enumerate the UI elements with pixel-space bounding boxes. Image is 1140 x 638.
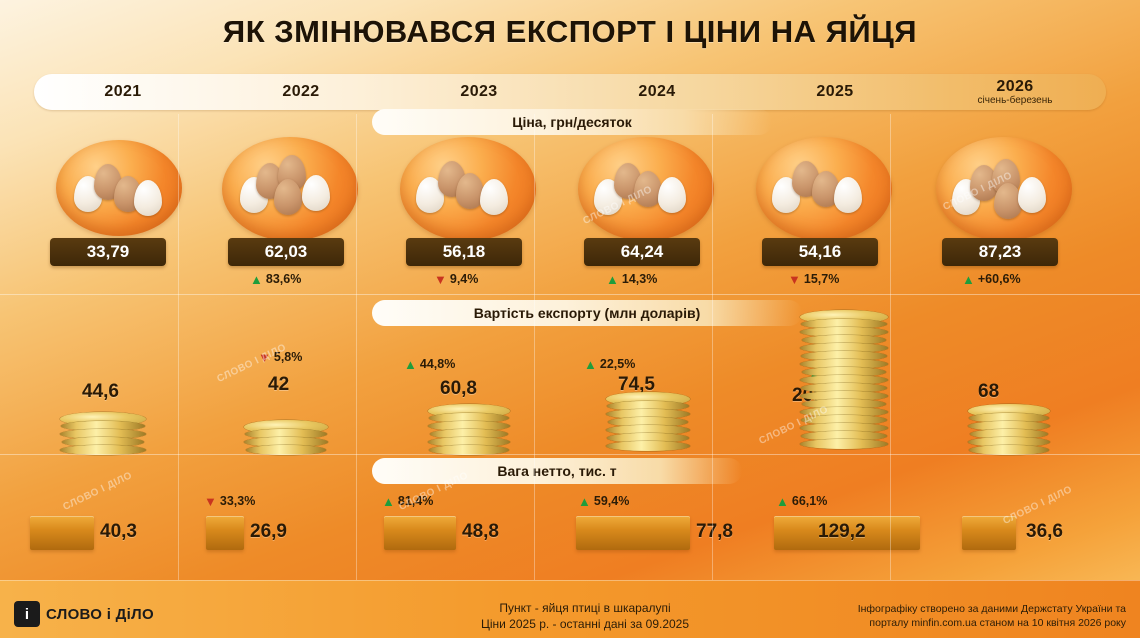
arrow-up-icon: ▲ [578,495,591,508]
year-label: 2022 [282,84,319,100]
section-label-export: Вартість експорту (млн доларів) [372,300,802,326]
year-label: 2021 [104,84,141,100]
egg-brown [274,179,302,215]
section-divider-export [0,294,1140,295]
delta-text: 33,3% [220,494,255,508]
weight-bar-2026 [962,516,1016,550]
weight-value-2026: 36,6 [1026,521,1063,543]
egg-white [658,177,686,213]
egg-cluster-2025 [756,137,892,241]
arrow-up-icon: ▲ [250,273,263,286]
section-divider-weight [0,454,1140,455]
export-delta-2023: ▲ 44,8% [404,357,455,371]
arrow-down-icon: ▼ [434,273,447,286]
source-line-2: порталу minfin.com.ua станом на 10 квітн… [796,616,1126,630]
egg-white [834,177,862,213]
weight-delta-2025: ▲ 66,1% [776,494,827,508]
footnote: Пункт - яйця птиці в шкаралупі Ціни 2025… [370,600,800,632]
column-separator [712,114,713,580]
year-header-2021: 2021 [34,74,212,110]
weight-delta-2022: ▼ 33,3% [204,494,255,508]
delta-text: 59,4% [594,494,629,508]
year-header-2026: 2026 січень-березень [924,74,1106,110]
watermark: СЛОВО І ДІЛО [61,470,134,513]
arrow-down-icon: ▼ [204,495,217,508]
egg-cluster-2021 [56,140,182,236]
year-label: 2026 [996,79,1033,95]
price-delta-2023: ▼ 9,4% [434,272,478,286]
egg-white [1018,177,1046,213]
year-header-2022: 2022 [212,74,390,110]
egg-cluster-2026 [936,137,1072,241]
egg-white [134,180,162,216]
egg-white [480,179,508,215]
price-value-2021: 33,79 [50,238,166,266]
footnote-line-1: Пункт - яйця птиці в шкаралупі [370,600,800,616]
arrow-up-icon: ▲ [382,495,395,508]
export-value-2026: 68 [978,381,999,403]
weight-value-2025: 129,2 [818,521,866,543]
weight-bar-2023 [384,516,456,550]
arrow-up-icon: ▲ [606,273,619,286]
egg-cluster-2024 [578,137,714,241]
weight-bar-2021 [30,516,94,550]
arrow-up-icon: ▲ [776,495,789,508]
column-separator [356,114,357,580]
export-value-2023: 60,8 [440,378,477,400]
infographic-canvas: ЯК ЗМІНЮВАВСЯ ЕКСПОРТ І ЦІНИ НА ЯЙЦЯ 202… [0,0,1140,638]
year-label: 2023 [460,84,497,100]
footnote-line-2: Ціни 2025 р. - останні дані за 09.2025 [370,616,800,632]
arrow-up-icon: ▲ [404,358,417,371]
column-separator [178,114,179,580]
price-delta-2022: ▲ 83,6% [250,272,301,286]
column-separator [534,114,535,580]
delta-text: 5,8% [274,350,303,364]
price-delta-2026: ▲ +60,6% [962,272,1021,286]
year-sublabel: січень-березень [978,95,1053,106]
section-label-weight: Вага нетто, тис. т [372,458,742,484]
price-value-2026: 87,23 [942,238,1058,266]
year-label: 2025 [816,84,853,100]
price-value-2023: 56,18 [406,238,522,266]
weight-value-2022: 26,9 [250,521,287,543]
delta-text: 14,3% [622,272,657,286]
delta-text: 22,5% [600,357,635,371]
weight-value-2023: 48,8 [462,521,499,543]
weight-value-2021: 40,3 [100,521,137,543]
price-value-2022: 62,03 [228,238,344,266]
coin [606,441,690,451]
delta-text: 83,6% [266,272,301,286]
delta-text: 44,8% [420,357,455,371]
weight-delta-2023: ▲ 81,4% [382,494,433,508]
price-value-2024: 64,24 [584,238,700,266]
weight-value-2024: 77,8 [696,521,733,543]
arrow-down-icon: ▼ [258,351,271,364]
year-header-2025: 2025 [746,74,924,110]
egg-cluster-2022 [222,137,358,241]
page-title: ЯК ЗМІНЮВАВСЯ ЕКСПОРТ І ЦІНИ НА ЯЙЦЯ [0,14,1140,50]
arrow-up-icon: ▲ [584,358,597,371]
price-delta-2025: ▼ 15,7% [788,272,839,286]
arrow-up-icon: ▲ [962,273,975,286]
logo-mark: і [14,601,40,627]
delta-text: +60,6% [978,272,1021,286]
weight-bar-2022 [206,516,244,550]
logo[interactable]: і СЛОВО і ДіЛО [14,600,164,628]
egg-white [302,175,330,211]
delta-text: 15,7% [804,272,839,286]
logo-text: СЛОВО і ДіЛО [46,606,154,623]
export-delta-2024: ▲ 22,5% [584,357,635,371]
export-value-2022: 42 [268,374,289,396]
weight-bar-2024 [576,516,690,550]
year-label: 2024 [638,84,675,100]
source-note: Інфографіку створено за даними Держстату… [796,602,1126,630]
delta-text: 66,1% [792,494,827,508]
export-delta-2022: ▼ 5,8% [258,350,302,364]
price-value-2025: 54,16 [762,238,878,266]
year-header-2024: 2024 [568,74,746,110]
years-header-bar: 2021 2022 2023 2024 2025 2026 січень-бер… [34,74,1106,110]
coin [800,439,888,449]
weight-delta-2024: ▲ 59,4% [578,494,629,508]
year-header-2023: 2023 [390,74,568,110]
column-separator [890,114,891,580]
arrow-down-icon: ▼ [788,273,801,286]
source-line-1: Інфографіку створено за даними Держстату… [796,602,1126,616]
delta-text: 9,4% [450,272,479,286]
egg-cluster-2023 [400,137,536,241]
export-value-2021: 44,6 [82,381,119,403]
delta-text: 81,4% [398,494,433,508]
price-delta-2024: ▲ 14,3% [606,272,657,286]
